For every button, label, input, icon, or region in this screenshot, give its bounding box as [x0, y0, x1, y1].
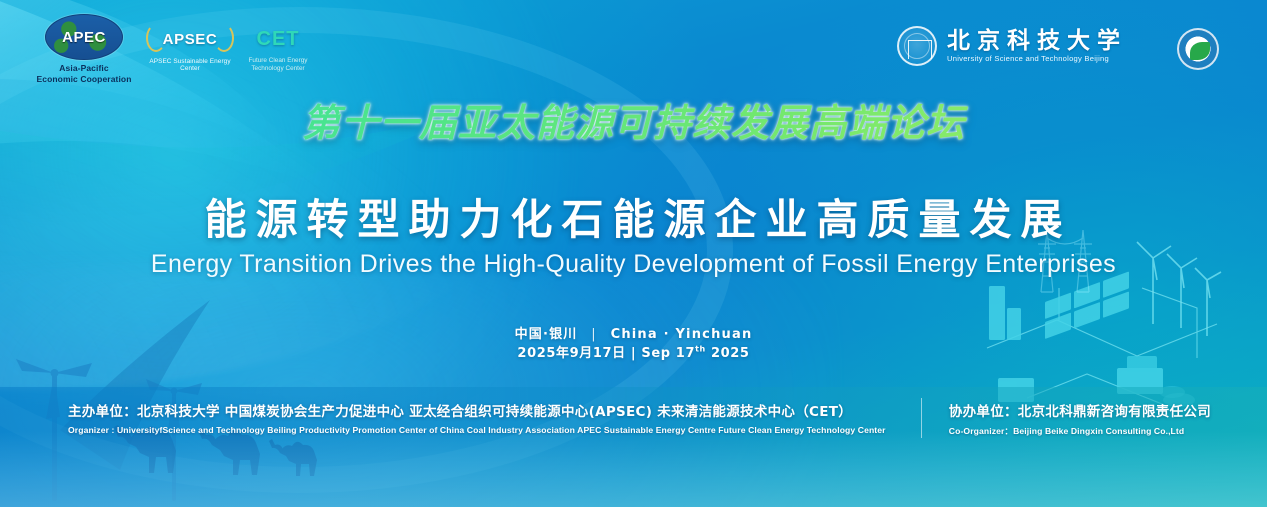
ustb-name-cn: 北京科技大学 [947, 29, 1127, 53]
ustb-seal-icon [897, 26, 937, 66]
conference-banner: APEC Asia-Pacific Economic Cooperation A… [0, 0, 1267, 507]
cet-caption: Future Clean Energy Technology Center [232, 57, 324, 74]
wreath-left-icon [146, 24, 166, 52]
date-en-sup: th [695, 345, 706, 354]
forum-title: 第十一届亚太能源可持续发展高端论坛 [0, 92, 1267, 147]
date-en-year: 2025 [711, 346, 750, 361]
theme-title-cn: 能源转型助力化石能源企业高质量发展 [0, 186, 1267, 247]
date-cn: 2025年9月17日 [517, 346, 625, 361]
co-organizers-en: Co-Organizer：Beijing Beike Dingxin Consu… [949, 425, 1211, 437]
green-leaf-emblem-logo [1177, 28, 1219, 70]
date-separator: | [631, 346, 636, 361]
logo-row: APEC Asia-Pacific Economic Cooperation A… [0, 0, 1267, 92]
host-organizers: 主办单位：北京科技大学 中国煤炭协会生产力促进中心 亚太经合组织可持续能源中心(… [0, 400, 886, 435]
apec-caption: Asia-Pacific Economic Cooperation [32, 63, 136, 84]
host-organizers-cn: 主办单位：北京科技大学 中国煤炭协会生产力促进中心 亚太经合组织可持续能源中心(… [68, 400, 886, 420]
date-en-prefix: Sep 17 [641, 346, 695, 361]
venue-en: China · Yinchuan [611, 327, 753, 342]
cet-caption-line1: Future Clean Energy [232, 57, 324, 65]
ustb-name-en: University of Science and Technology Bei… [947, 54, 1127, 63]
date-line: 2025年9月17日 | Sep 17th 2025 [0, 342, 1267, 361]
apec-mark-text: APEC [62, 29, 106, 46]
cet-mark-icon: CET [232, 22, 324, 56]
apsec-logo: APSEC APSEC Sustainable Energy Center [144, 22, 236, 72]
ustb-logo: 北京科技大学 University of Science and Technol… [897, 26, 1127, 66]
co-organizers: 协办单位：北京北科鼎新咨询有限责任公司 Co-Organizer：Beijing… [921, 400, 1267, 437]
apec-globe-icon: APEC [45, 14, 123, 60]
apec-caption-line1: Asia-Pacific [32, 63, 136, 74]
apec-logo: APEC Asia-Pacific Economic Cooperation [32, 14, 136, 84]
theme-title-en: Energy Transition Drives the High-Qualit… [0, 250, 1267, 279]
ustb-text: 北京科技大学 University of Science and Technol… [947, 29, 1127, 63]
apsec-wreath-icon: APSEC [144, 22, 236, 56]
cet-mark-text: CET [257, 28, 300, 51]
cet-logo: CET Future Clean Energy Technology Cente… [232, 22, 324, 74]
cet-caption-line2: Technology Center [232, 65, 324, 73]
apec-caption-line2: Economic Cooperation [32, 74, 136, 85]
venue-separator: | [591, 327, 597, 342]
apsec-mark-text: APSEC [163, 31, 218, 48]
apsec-caption: APSEC Sustainable Energy Center [144, 58, 236, 72]
venue-line: 中国·银川 | China · Yinchuan [0, 323, 1267, 342]
host-organizers-en: Organizer : UniversityfScience and Techn… [68, 425, 886, 435]
wreath-right-icon [214, 24, 234, 52]
co-organizers-cn: 协办单位：北京北科鼎新咨询有限责任公司 [949, 400, 1211, 420]
green-leaf-icon [1177, 28, 1219, 70]
organizers-row: 主办单位：北京科技大学 中国煤炭协会生产力促进中心 亚太经合组织可持续能源中心(… [0, 400, 1267, 444]
venue-cn: 中国·银川 [515, 327, 578, 342]
